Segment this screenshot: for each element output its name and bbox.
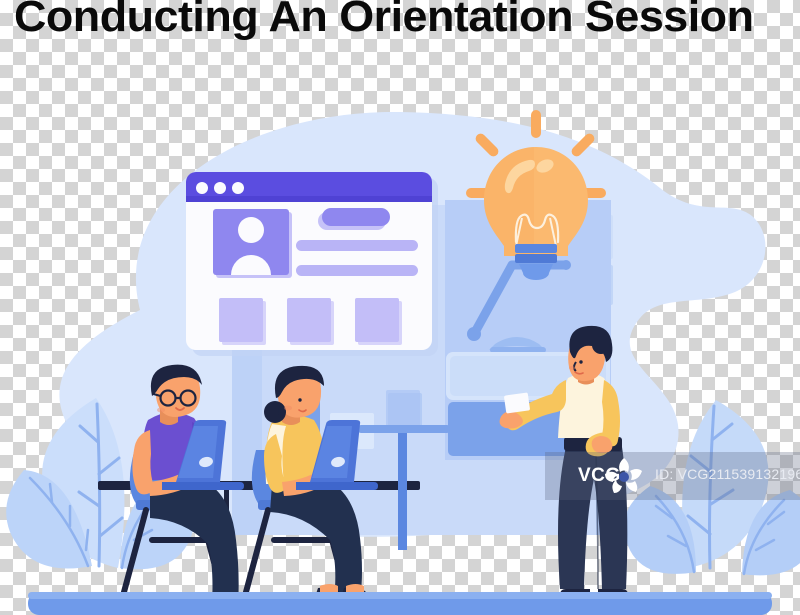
- text-bar: [296, 240, 418, 251]
- illustration-canvas: VCG ID: VCG211539132196 Conducting An Or…: [0, 0, 800, 615]
- content-tile: [219, 298, 263, 342]
- watermark-id: ID: VCG211539132196: [655, 464, 800, 484]
- window-dot: [232, 182, 244, 194]
- scene-illustration: [0, 0, 800, 615]
- page-title: Conducting An Orientation Session: [14, 0, 800, 43]
- pill-button: [322, 208, 390, 226]
- window-dot: [214, 182, 226, 194]
- vcg-pinwheel-icon: [600, 452, 648, 500]
- content-tile: [355, 298, 399, 342]
- hair-bun: [264, 401, 286, 423]
- text-bar: [296, 265, 418, 276]
- browser-window-mockup: [186, 172, 438, 356]
- watermark-brand: VCG: [578, 456, 602, 496]
- floor-bar: [28, 592, 772, 615]
- presenter-card: [504, 392, 530, 413]
- seated-man-with-laptop: [124, 365, 244, 607]
- window-dot: [196, 182, 208, 194]
- content-tile: [287, 298, 331, 342]
